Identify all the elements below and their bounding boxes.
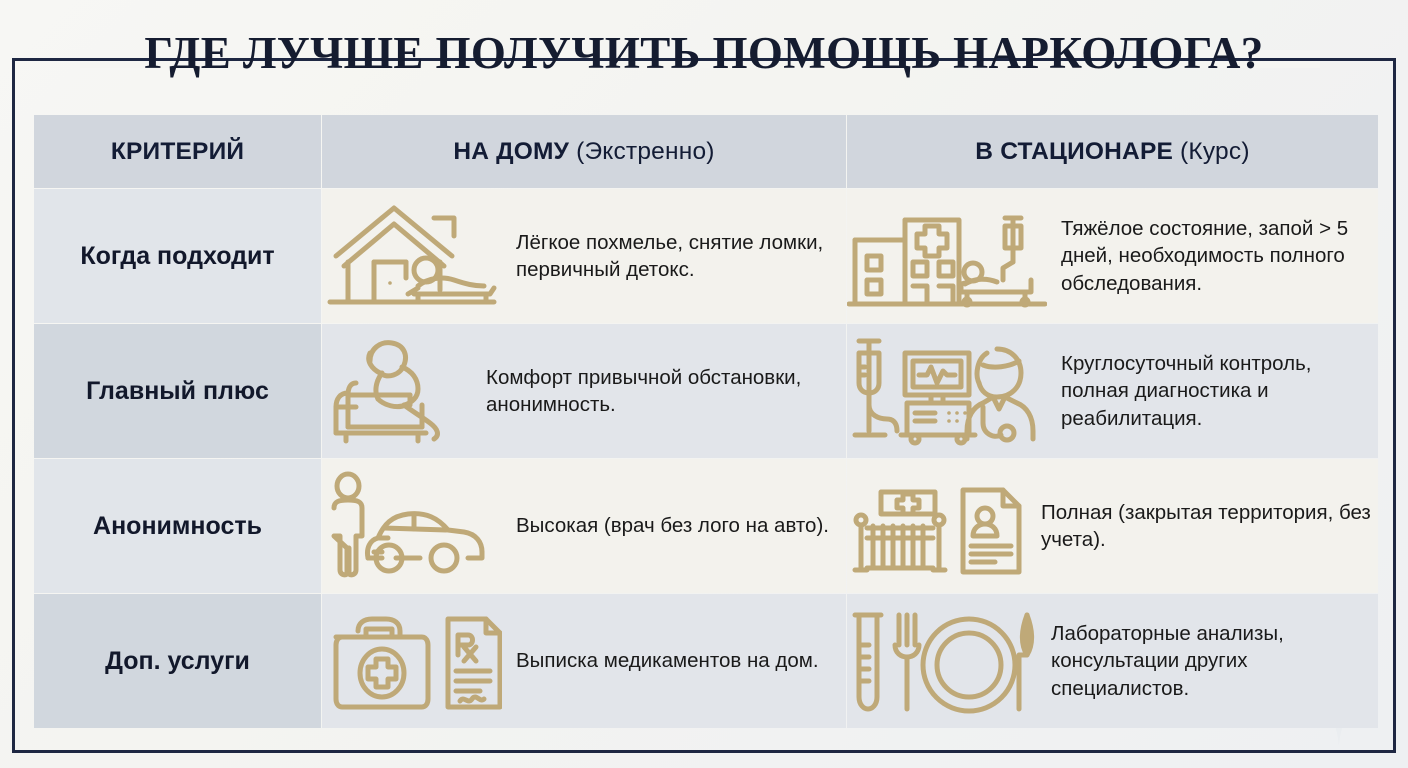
hospital-cell: Лабораторные анализы, консультации други…	[847, 594, 1378, 728]
table-row: Главный плюс	[34, 324, 1378, 458]
criterion-label: Главный плюс	[34, 324, 321, 458]
home-cell: Выписка медикаментов на дом.	[322, 594, 846, 728]
hospital-text: Лабораторные анализы, консультации други…	[1051, 620, 1378, 702]
home-cell: Высокая (врач без лого на авто).	[322, 459, 846, 593]
house-with-patient-on-bed-icon	[322, 200, 502, 312]
page-title: ГДЕ ЛУЧШЕ ПОЛУЧИТЬ ПОМОЩЬ НАРКОЛОГА?	[0, 27, 1408, 79]
person-relaxing-in-armchair-icon	[322, 335, 472, 447]
iv-stand-monitor-doctor-icon	[847, 335, 1047, 447]
header-home-strong: НА ДОМУ	[453, 138, 569, 165]
hospital-cell: Полная (закрытая территория, без учета).	[847, 459, 1378, 593]
table-row: Анонимность	[34, 459, 1378, 593]
header-home-note: (Экстренно)	[576, 138, 715, 165]
criterion-label: Когда подходит	[34, 189, 321, 323]
hospital-cell: Тяжёлое состояние, запой > 5 дней, необх…	[847, 189, 1378, 323]
hospital-text: Полная (закрытая территория, без учета).	[1041, 499, 1378, 554]
criterion-label: Доп. услуги	[34, 594, 321, 728]
home-text: Выписка медикаментов на дом.	[516, 647, 846, 674]
test-tube-and-meal-plate-icon	[847, 605, 1037, 717]
hospital-text: Тяжёлое состояние, запой > 5 дней, необх…	[1061, 215, 1378, 297]
home-text: Лёгкое похмелье, снятие ломки, первичный…	[516, 229, 846, 284]
home-text: Высокая (врач без лого на авто).	[516, 512, 846, 539]
hospital-text: Круглосуточный контроль, полная диагност…	[1061, 350, 1378, 432]
header-home: НА ДОМУ (Экстренно)	[322, 115, 846, 188]
table-header-row: КРИТЕРИЙ НА ДОМУ (Экстренно) В СТАЦИОНАР…	[34, 115, 1378, 188]
clinic-fence-and-document-icon	[847, 470, 1027, 582]
person-and-unmarked-car-icon	[322, 470, 502, 582]
table-row: Доп. услуги	[34, 594, 1378, 728]
hospital-cell: Круглосуточный контроль, полная диагност…	[847, 324, 1378, 458]
header-criterion: КРИТЕРИЙ	[34, 115, 321, 188]
header-hospital-note: (Курс)	[1180, 138, 1250, 165]
first-aid-kit-and-prescription-icon	[322, 605, 502, 717]
header-hospital: В СТАЦИОНАРЕ (Курс)	[847, 115, 1378, 188]
table-row: Когда подходит	[34, 189, 1378, 323]
header-hospital-strong: В СТАЦИОНАРЕ	[975, 138, 1173, 165]
hospital-building-with-iv-bed-icon	[847, 200, 1047, 312]
comparison-table: КРИТЕРИЙ НА ДОМУ (Экстренно) В СТАЦИОНАР…	[33, 114, 1379, 729]
home-cell: Лёгкое похмелье, снятие ломки, первичный…	[322, 189, 846, 323]
home-cell: Комфорт привычной обстановки, анонимност…	[322, 324, 846, 458]
criterion-label: Анонимность	[34, 459, 321, 593]
home-text: Комфорт привычной обстановки, анонимност…	[486, 364, 846, 419]
